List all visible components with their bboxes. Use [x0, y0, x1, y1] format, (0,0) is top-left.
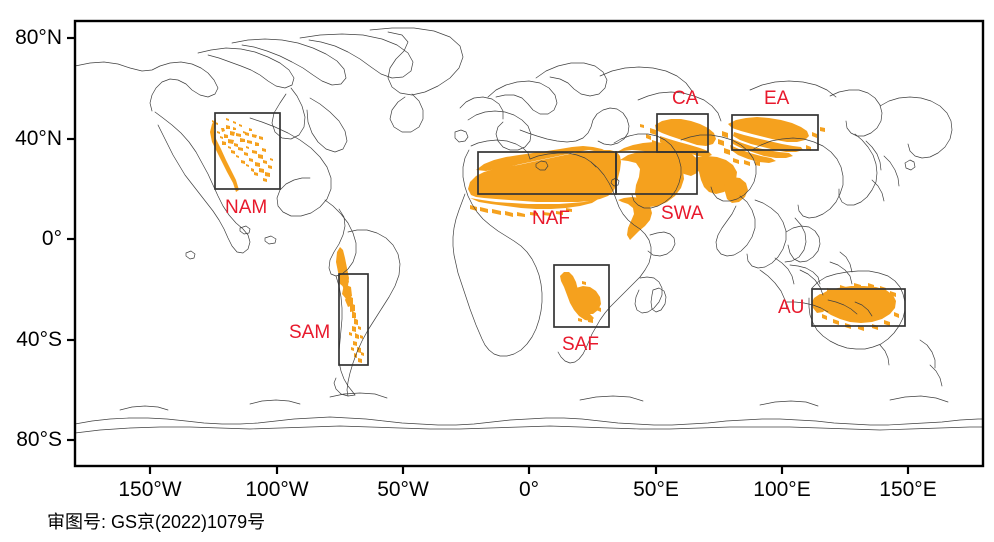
- y-tick-label-80S: 80°S: [0, 428, 62, 452]
- y-tick-label-40N: 40°N: [0, 127, 62, 151]
- x-tick-label-50W: 50°W: [343, 478, 463, 502]
- x-tick-label-150W: 150°W: [90, 478, 210, 502]
- region-box-NAM: [215, 113, 280, 189]
- region-label-SAF: SAF: [562, 334, 599, 356]
- region-label-AU: AU: [778, 297, 804, 319]
- world-dryland-map-figure: 80°N 40°N 0° 40°S 80°S 150°W 100°W 50°W …: [0, 0, 994, 542]
- x-tick-label-0: 0°: [469, 478, 589, 502]
- region-label-SAM: SAM: [289, 322, 330, 344]
- y-tick-label-80N: 80°N: [0, 26, 62, 50]
- axes-frame: [67, 21, 983, 474]
- coastline-layer: [75, 28, 983, 433]
- y-tick-label-40S: 40°S: [0, 328, 62, 352]
- region-label-CA: CA: [672, 88, 698, 110]
- x-tick-label-150E: 150°E: [848, 478, 968, 502]
- region-label-NAM: NAM: [225, 197, 267, 219]
- y-tick-label-0: 0°: [0, 227, 62, 251]
- map-canvas: [0, 0, 994, 542]
- x-tick-label-100W: 100°W: [217, 478, 337, 502]
- region-label-SWA: SWA: [661, 203, 704, 225]
- map-approval-number-caption: 审图号: GS京(2022)1079号: [47, 508, 265, 534]
- x-tick-label-100E: 100°E: [722, 478, 842, 502]
- region-label-EA: EA: [764, 88, 789, 110]
- region-label-NAF: NAF: [532, 208, 570, 230]
- x-tick-label-50E: 50°E: [596, 478, 716, 502]
